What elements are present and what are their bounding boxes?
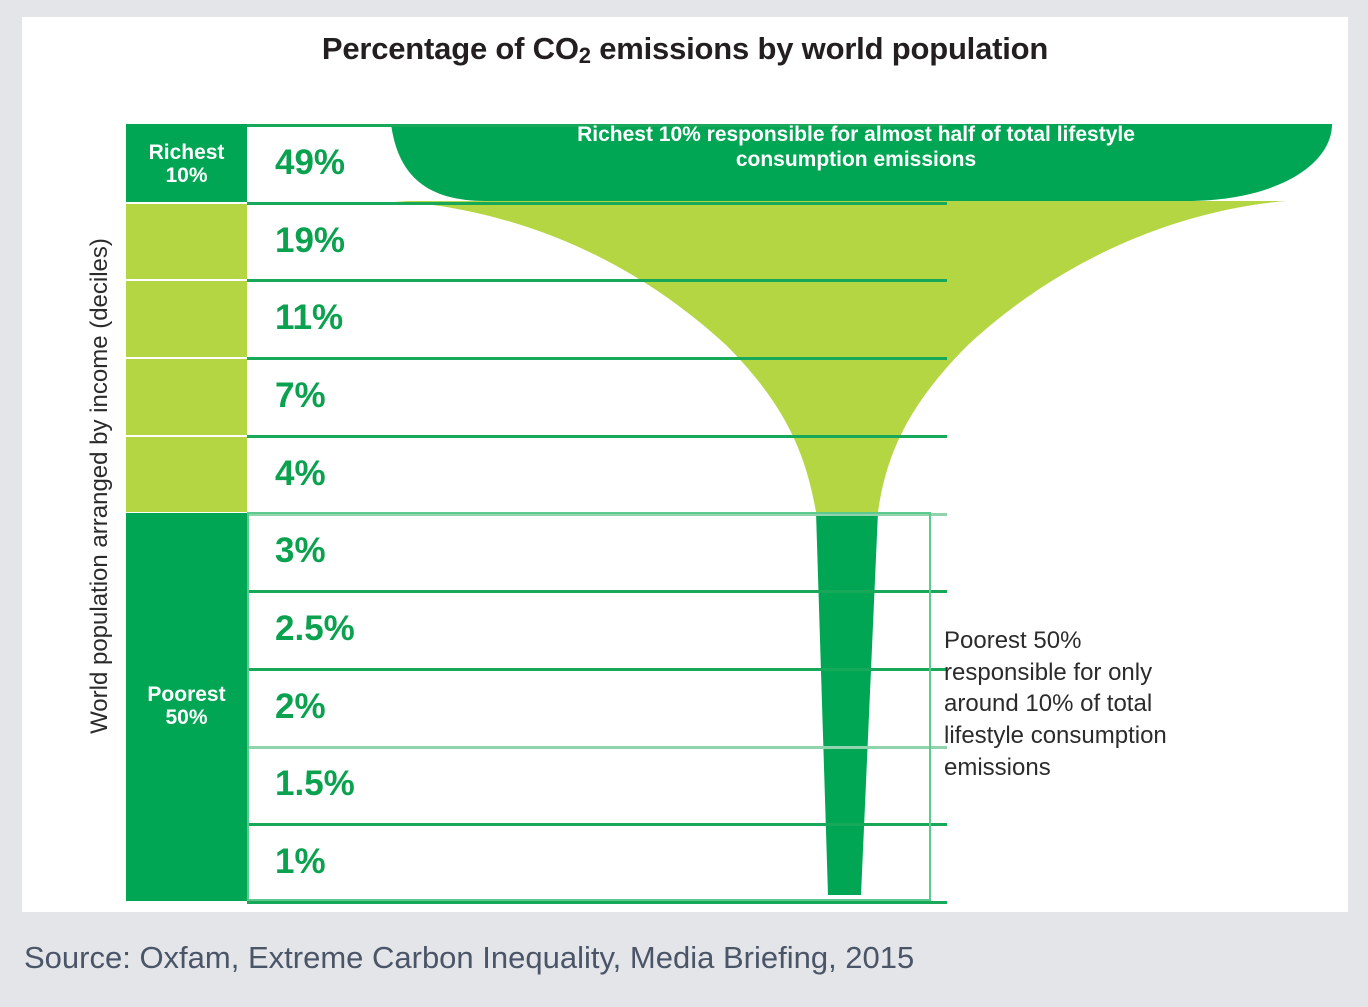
y-axis-label: World population arranged by income (dec…: [86, 166, 114, 806]
bracket-poorest-line2: 50%: [126, 707, 247, 730]
page-title: Percentage of CO2 emissions by world pop…: [22, 31, 1348, 67]
bracket-richest-line2: 10%: [126, 165, 247, 188]
decile-value: 2.5%: [275, 609, 355, 649]
decile-value: 2%: [275, 687, 326, 727]
decile-swatch: [126, 437, 247, 513]
table-row: 1%: [247, 823, 947, 901]
annotation-poorest: Poorest 50% responsible for only around …: [944, 625, 1204, 783]
annotation-richest-line2: consumption emissions: [526, 147, 1186, 172]
decile-value: 1.5%: [275, 764, 355, 804]
decile-value: 11%: [275, 298, 343, 338]
decile-value: 7%: [275, 376, 326, 416]
decile-value: 3%: [275, 531, 326, 571]
page-title-subscript: 2: [579, 43, 591, 68]
table-row: 7%: [247, 357, 947, 435]
table-row: 2%: [247, 668, 947, 746]
decile-value: 1%: [275, 842, 326, 882]
decile-swatch: [126, 359, 247, 435]
table-row: 4%: [247, 435, 947, 513]
table-row: 11%: [247, 279, 947, 357]
bracket-label-richest: Richest 10%: [126, 142, 247, 187]
table-row: 2.5%: [247, 590, 947, 668]
infographic-root: Percentage of CO2 emissions by world pop…: [0, 0, 1368, 1007]
plot-area: Richest 10% Poorest 50% 49% 19%: [126, 105, 1348, 895]
table-row: 1.5%: [247, 746, 947, 824]
decile-swatch: [126, 281, 247, 357]
decile-value: 19%: [275, 221, 345, 261]
chart-card: Percentage of CO2 emissions by world pop…: [22, 17, 1348, 912]
bracket-label-poorest: Poorest 50%: [126, 684, 247, 729]
decile-value: 4%: [275, 454, 326, 494]
decile-swatch: [126, 204, 247, 280]
bracket-poorest-line1: Poorest: [126, 684, 247, 707]
annotation-richest: Richest 10% responsible for almost half …: [526, 122, 1186, 172]
bracket-richest-line1: Richest: [126, 142, 247, 165]
page-title-main: Percentage of CO: [322, 31, 579, 66]
page-title-rest: emissions by world population: [591, 31, 1048, 66]
source-caption: Source: Oxfam, Extreme Carbon Inequality…: [24, 940, 914, 976]
row-divider: [247, 901, 947, 904]
decile-color-column: Richest 10% Poorest 50%: [126, 124, 247, 901]
decile-value: 49%: [275, 143, 345, 183]
table-row: 19%: [247, 202, 947, 280]
annotation-richest-line1: Richest 10% responsible for almost half …: [526, 122, 1186, 147]
table-row: 3%: [247, 513, 947, 591]
decile-rows: 49% 19% 11% 7% 4%: [247, 124, 1348, 901]
